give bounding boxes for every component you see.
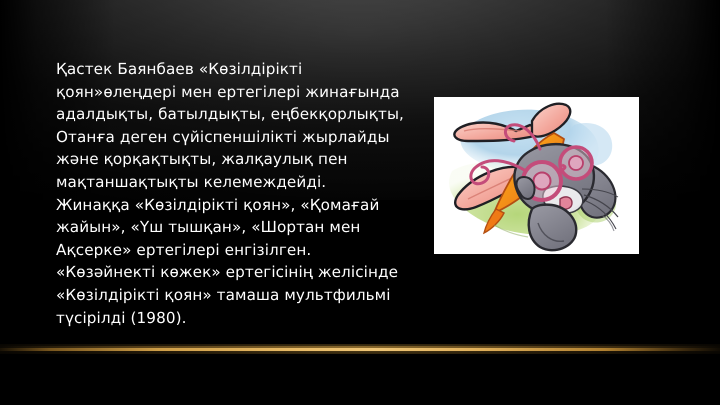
gold-divider-line <box>0 348 720 351</box>
illustration-image <box>434 97 639 254</box>
presentation-slide: Қастек Баянбаев «Көзілдірікті қоян»өлеңд… <box>0 0 720 405</box>
slide-body-text: Қастек Баянбаев «Көзілдірікті қоян»өлеңд… <box>56 58 404 329</box>
gold-divider-band <box>0 344 720 354</box>
cartoon-rabbit-icon <box>434 97 639 254</box>
illustration-frame <box>434 97 639 254</box>
